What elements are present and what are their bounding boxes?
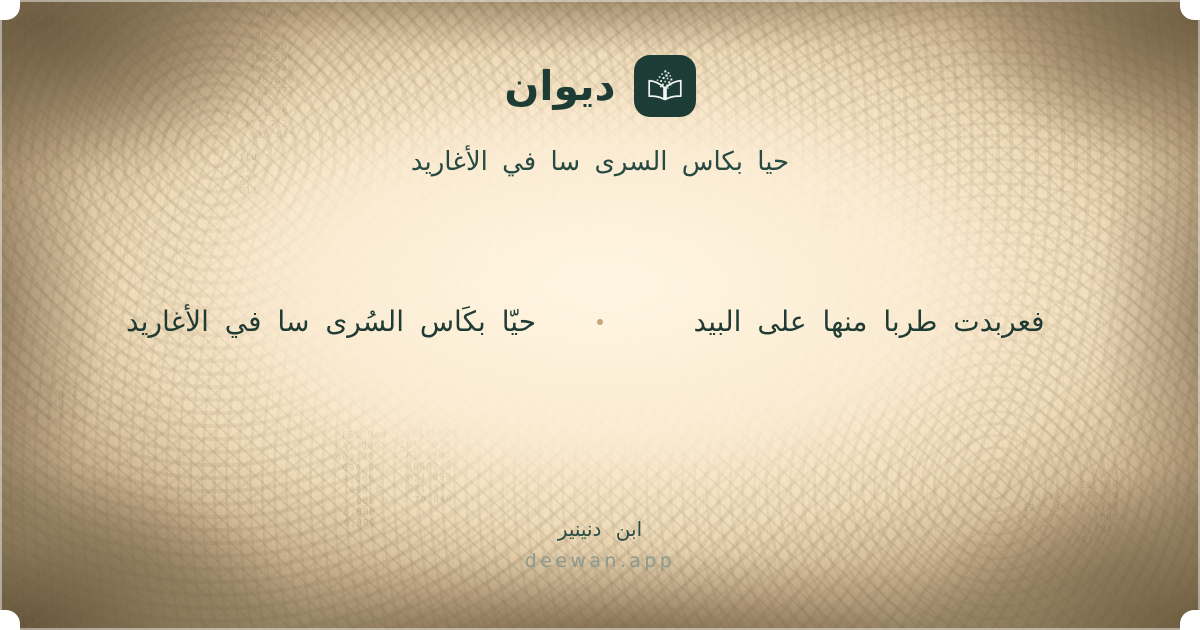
page-title: حيا بكاس السرى سا في الأغاريد [411,143,789,182]
verse-separator-dot [597,319,603,325]
poet-name[interactable]: ابن دنينير [0,514,1200,544]
poem-share-card: 40,070 - . 48,900 . 34 090 449.007 ) 480… [0,0,1200,630]
verse: فعربدت طربا منها على البيد حيّا بكَاس ال… [0,300,1200,345]
brand-lockup[interactable]: ديوان [504,55,695,117]
card-content: ديوان حيا بكاس السرى سا في الأغاريد فعرب… [0,0,1200,630]
brand-name: ديوان [504,66,615,107]
open-book-sparkles-icon [634,55,696,117]
verse-second-hemistich: فعربدت طربا منها على البيد [609,300,1129,345]
verse-first-hemistich: حيّا بكَاس السُرى سا في الأغاريد [71,300,591,345]
card-footer: ابن دنينير deewan.app [0,514,1200,572]
site-url[interactable]: deewan.app [0,550,1200,572]
